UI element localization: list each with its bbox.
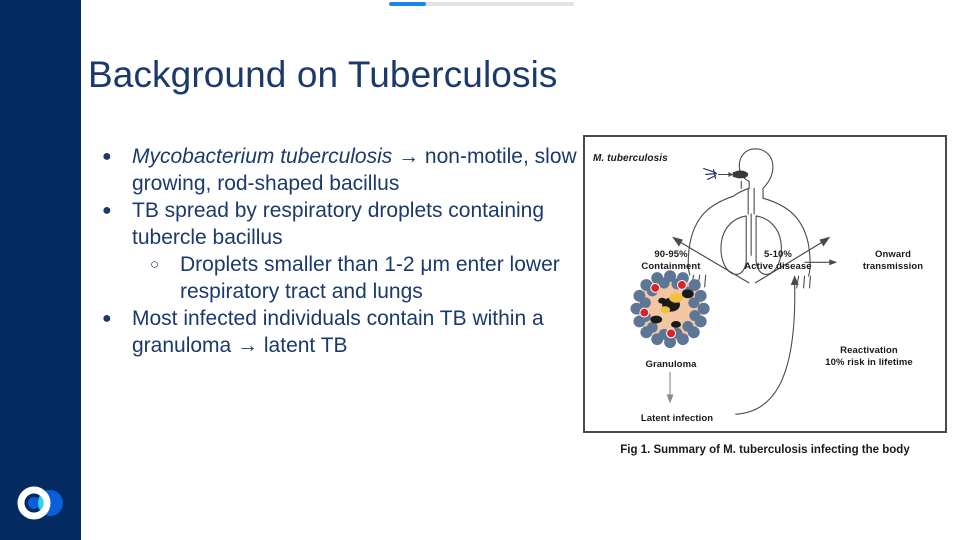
species-name: Mycobacterium tuberculosis: [132, 145, 392, 168]
list-item-text: Droplets smaller than 1-2 μm enter lower…: [180, 251, 585, 305]
diagram-label-pathogen: M. tuberculosis: [593, 153, 668, 165]
onward-line1: Onward: [843, 249, 943, 261]
active-text: Active disease: [730, 261, 826, 273]
onward-line2: transmission: [843, 261, 943, 273]
diagram-label-onward-transmission: Onward transmission: [843, 249, 943, 273]
bullet-marker: ●: [102, 305, 132, 332]
figure-image: M. tuberculosis 90-95% Containment 5-10%…: [583, 135, 947, 433]
granuloma-illustration: [630, 270, 709, 348]
list-item: ● Mycobacterium tuberculosis → non-motil…: [95, 143, 585, 197]
figure-block: M. tuberculosis 90-95% Containment 5-10%…: [583, 135, 949, 456]
reactivation-line2: 10% risk in lifetime: [801, 357, 937, 369]
containment-percent: 90-95%: [623, 249, 719, 261]
page-title: Background on Tuberculosis: [88, 52, 708, 98]
list-item-text: TB spread by respiratory droplets contai…: [132, 197, 585, 251]
bullet-marker: ●: [102, 143, 132, 170]
list-item-text: Mycobacterium tuberculosis → non-motile,…: [132, 143, 585, 197]
diagram-label-reactivation: Reactivation 10% risk in lifetime: [801, 345, 937, 369]
active-percent: 5-10%: [730, 249, 826, 261]
containment-text: Containment: [623, 261, 719, 273]
list-item: ● TB spread by respiratory droplets cont…: [95, 197, 585, 251]
diagram-label-granuloma: Granuloma: [623, 359, 719, 371]
bullet-marker: ●: [102, 197, 132, 224]
diagram-label-active-disease: 5-10% Active disease: [730, 249, 826, 273]
reactivation-line1: Reactivation: [801, 345, 937, 357]
figure-caption: Fig 1. Summary of M. tuberculosis infect…: [583, 444, 947, 456]
list-item-text: Most infected individuals contain TB wit…: [132, 305, 585, 359]
diagram-label-latent-infection: Latent infection: [621, 413, 733, 425]
list-item: ● Most infected individuals contain TB w…: [95, 305, 585, 359]
bullet-list: ● Mycobacterium tuberculosis → non-motil…: [95, 143, 585, 359]
diagram-label-containment: 90-95% Containment: [623, 249, 719, 273]
bullet-marker: ○: [150, 251, 180, 278]
list-item: ○ Droplets smaller than 1-2 μm enter low…: [95, 251, 585, 305]
slide-canvas: Background on Tuberculosis ● Mycobacteri…: [81, 0, 960, 540]
infinity-rings-logo: [14, 483, 70, 523]
sidebar-rail: [0, 0, 81, 540]
